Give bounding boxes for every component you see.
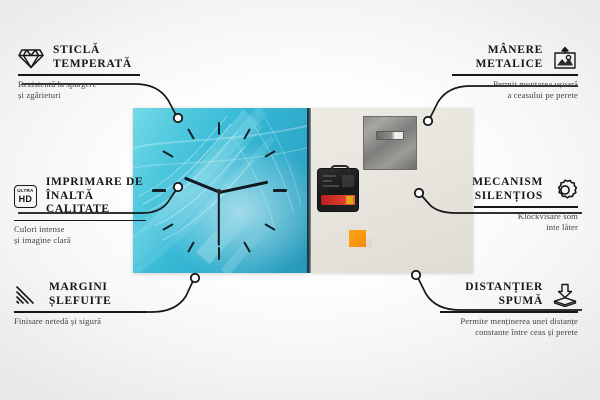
clock-tick bbox=[162, 150, 173, 158]
ultra-hd-badge-icon: ultra HD bbox=[14, 185, 37, 208]
clock-tick bbox=[243, 241, 251, 252]
product-photo bbox=[133, 108, 473, 273]
clock-mechanism bbox=[317, 168, 359, 212]
callout-title: MECANISM SILENȚIOS bbox=[472, 176, 543, 203]
callout-subtitle: Culori intense și imagine clară bbox=[14, 224, 146, 246]
clock-tick bbox=[264, 150, 275, 158]
clock-tick bbox=[152, 189, 166, 192]
callout-rule bbox=[18, 74, 140, 76]
clock-tick bbox=[264, 223, 275, 231]
clock-minute-hand bbox=[219, 180, 269, 193]
mechanism-detail bbox=[323, 180, 332, 182]
callout-margini-slefuite: MARGINI ȘLEFUITE Finisare netedă și sigu… bbox=[14, 281, 146, 327]
battery-terminal bbox=[346, 196, 353, 204]
callout-title: STICLĂ TEMPERATĂ bbox=[53, 44, 132, 71]
callout-title: DISTANȚIER SPUMĂ bbox=[465, 281, 543, 308]
ultra-hd-ultra-text: ultra bbox=[17, 189, 33, 194]
clock-center-pin bbox=[217, 189, 221, 193]
ultra-hd-hd-text: HD bbox=[19, 195, 33, 204]
mechanism-detail bbox=[323, 175, 336, 177]
foam-spacer bbox=[349, 230, 366, 247]
clock-tick bbox=[162, 223, 173, 231]
clock-tick bbox=[187, 128, 195, 139]
callout-subtitle: Permite menținerea unei distanțe constan… bbox=[440, 316, 578, 338]
callout-rule bbox=[452, 74, 578, 76]
callout-distantier-spuma: DISTANȚIER SPUMĂ Permite menținerea unei… bbox=[440, 281, 578, 338]
clock-tick bbox=[273, 189, 287, 192]
gear-icon bbox=[552, 178, 578, 202]
callout-imprimare-hd: ultra HD IMPRIMARE DE ÎNALTĂ CALITATE Cu… bbox=[14, 176, 146, 247]
clock-tick bbox=[218, 122, 220, 135]
callout-sticla-temperata: STICLĂ TEMPERATĂ Rezistentă la spargere … bbox=[18, 44, 140, 101]
accessories-panel bbox=[311, 108, 473, 273]
infographic-canvas: STICLĂ TEMPERATĂ Rezistentă la spargere … bbox=[0, 0, 600, 400]
hanger-slot bbox=[376, 131, 404, 140]
callout-manere-metalice: MÂNERE METALICE Permit montarea ușoară a… bbox=[452, 44, 578, 101]
callout-rule bbox=[474, 206, 578, 208]
callout-rule bbox=[440, 311, 578, 313]
connector-dot-margini bbox=[191, 274, 199, 282]
callout-title: IMPRIMARE DE ÎNALTĂ CALITATE bbox=[46, 176, 146, 217]
glass-clock-panel bbox=[133, 108, 307, 273]
callout-rule bbox=[14, 311, 146, 313]
callout-subtitle: Finisare netedă și sigură bbox=[14, 316, 146, 327]
mechanism-handle bbox=[330, 165, 350, 173]
clock-tick bbox=[187, 241, 195, 252]
clock-tick bbox=[218, 247, 220, 260]
clock-hour-hand bbox=[184, 176, 220, 193]
callout-subtitle: Klockvisare som inte låter bbox=[474, 211, 578, 233]
callout-mecanism-silentios: MECANISM SILENȚIOS Klockvisare som inte … bbox=[474, 176, 578, 233]
callout-subtitle: Rezistentă la spargere și zgârieturi bbox=[18, 79, 140, 101]
diamond-icon bbox=[18, 47, 44, 69]
mechanism-detail bbox=[323, 185, 339, 187]
mechanism-detail bbox=[342, 175, 354, 187]
foam-spacer-side bbox=[366, 232, 372, 247]
press-down-arrow-icon bbox=[552, 283, 578, 307]
clock-second-hand bbox=[218, 192, 220, 246]
callout-title: MARGINI ȘLEFUITE bbox=[49, 281, 111, 308]
metal-hanger-plate bbox=[363, 116, 417, 170]
clock-dial bbox=[133, 108, 307, 273]
callout-title: MÂNERE METALICE bbox=[476, 44, 543, 71]
callout-subtitle: Permit montarea ușoară a ceasului pe per… bbox=[452, 79, 578, 101]
clock-tick bbox=[243, 128, 251, 139]
picture-hanger-icon bbox=[552, 46, 578, 70]
callout-rule bbox=[14, 220, 146, 222]
mechanism-battery bbox=[321, 195, 355, 205]
polished-edges-icon bbox=[14, 284, 40, 306]
